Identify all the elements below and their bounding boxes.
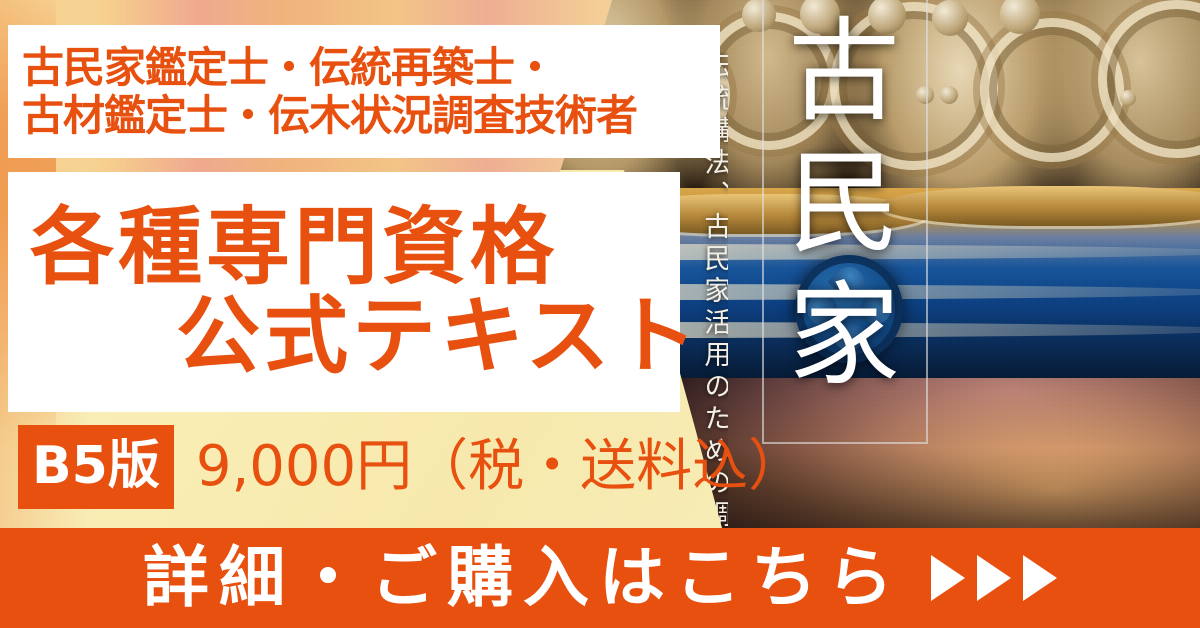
headline-text: 各種専門資格 公式テキスト [8,172,680,412]
qualifications-line-2: 古材鑑定士・伝木状況調査技術者 [22,92,720,139]
price-row: B5版 9,000円（税・送料込） [18,425,804,509]
qualifications-text: 古民家鑑定士・伝統再築士・ 古材鑑定士・伝木状況調査技術者 [8,25,720,158]
price-amount: 9,000円（税・送料込） [196,439,804,495]
headline-line-2: 公式テキスト [8,292,680,381]
cta-bar[interactable]: 詳細・ご購入はこちら [0,528,1200,628]
headline-line-1: 各種専門資格 [8,203,680,292]
chevron-right-icon [931,555,965,601]
qualifications-line-1: 古民家鑑定士・伝統再築士・ [22,44,720,91]
cover-title: 古民家 [770,6,920,402]
cta-label: 詳細・ご購入はこちら [143,545,903,611]
size-badge: B5版 [18,425,174,509]
chevron-right-icon [1023,555,1057,601]
cta-arrows [931,555,1057,601]
chevron-right-icon [977,555,1011,601]
promotional-banner: 古民家 伝統構法、古民家活用のための調査と再生の 古民家鑑定士・伝統再築士・ 古… [0,0,1200,628]
